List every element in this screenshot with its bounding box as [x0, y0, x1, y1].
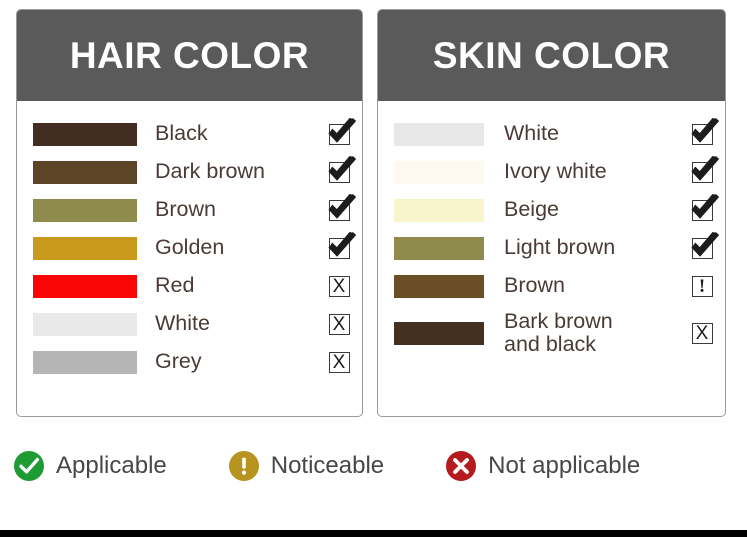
infographic-root: HAIR COLOR Black Dark brown — [0, 0, 747, 537]
color-label: White — [484, 122, 679, 145]
color-label: Ivory white — [484, 160, 679, 183]
panel-skin-color-header: SKIN COLOR — [378, 10, 725, 101]
x-mark-icon: X — [329, 352, 350, 373]
checkmark-icon — [329, 200, 350, 221]
color-swatch — [33, 161, 137, 184]
panel-hair-color-title: HAIR COLOR — [70, 37, 309, 74]
status-cell: X — [316, 352, 362, 373]
x-mark-icon: X — [329, 314, 350, 335]
panel-skin-color-body: White Ivory white Beige — [378, 101, 725, 361]
color-label: Brown — [484, 274, 679, 297]
color-label: Dark brown — [137, 160, 316, 183]
color-label: Grey — [137, 350, 316, 373]
status-cell — [679, 200, 725, 221]
table-row: Grey X — [17, 343, 362, 381]
table-row: Light brown — [378, 229, 725, 267]
legend-item-not-applicable: Not applicable — [446, 451, 640, 481]
color-swatch — [33, 275, 137, 298]
table-row: Red X — [17, 267, 362, 305]
exclamation-mark-icon: ! — [692, 276, 713, 297]
panel-skin-color-title: SKIN COLOR — [433, 37, 670, 74]
x-circle-icon — [446, 451, 476, 481]
color-swatch — [394, 199, 484, 222]
legend: Applicable Noticeable Not applicable — [0, 430, 747, 502]
legend-label: Applicable — [44, 452, 167, 480]
status-cell: X — [679, 323, 725, 344]
checkmark-icon — [329, 162, 350, 183]
check-circle-icon — [14, 451, 44, 481]
table-row: Brown — [17, 191, 362, 229]
color-label: Bark brown and black — [484, 310, 679, 356]
table-row: White — [378, 115, 725, 153]
status-cell: X — [316, 314, 362, 335]
color-label: Golden — [137, 236, 316, 259]
checkmark-icon — [692, 162, 713, 183]
table-row: Brown ! — [378, 267, 725, 305]
checkmark-icon — [692, 124, 713, 145]
status-cell: ! — [679, 276, 725, 297]
table-row: White X — [17, 305, 362, 343]
bottom-bar — [0, 530, 747, 537]
legend-label: Not applicable — [476, 452, 640, 480]
checkmark-icon — [692, 200, 713, 221]
status-cell — [679, 238, 725, 259]
status-cell — [316, 162, 362, 183]
table-row: Black — [17, 115, 362, 153]
table-row: Golden — [17, 229, 362, 267]
table-row: Ivory white — [378, 153, 725, 191]
legend-item-applicable: Applicable — [14, 451, 167, 481]
color-label: Red — [137, 274, 316, 297]
color-swatch — [33, 123, 137, 146]
panel-hair-color-header: HAIR COLOR — [17, 10, 362, 101]
color-swatch — [33, 237, 137, 260]
warning-circle-icon — [229, 451, 259, 481]
color-swatch — [394, 161, 484, 184]
panel-hair-color: HAIR COLOR Black Dark brown — [16, 9, 363, 417]
x-mark-icon: X — [329, 276, 350, 297]
status-cell — [316, 238, 362, 259]
table-row: Bark brown and black X — [378, 305, 725, 361]
checkmark-icon — [692, 238, 713, 259]
legend-item-noticeable: Noticeable — [229, 451, 384, 481]
color-swatch — [394, 237, 484, 260]
checkmark-icon — [329, 238, 350, 259]
status-cell — [679, 124, 725, 145]
color-swatch — [394, 322, 484, 345]
legend-label: Noticeable — [259, 452, 384, 480]
x-mark-icon: X — [692, 323, 713, 344]
color-label: Black — [137, 122, 316, 145]
color-label: Beige — [484, 198, 679, 221]
color-swatch — [33, 199, 137, 222]
status-cell — [316, 124, 362, 145]
panel-hair-color-body: Black Dark brown Brown — [17, 101, 362, 381]
table-row: Beige — [378, 191, 725, 229]
checkmark-icon — [329, 124, 350, 145]
color-swatch — [394, 123, 484, 146]
status-cell — [316, 200, 362, 221]
color-label: Brown — [137, 198, 316, 221]
status-cell — [679, 162, 725, 183]
panel-skin-color: SKIN COLOR White Ivory white — [377, 9, 726, 417]
color-swatch — [394, 275, 484, 298]
table-row: Dark brown — [17, 153, 362, 191]
color-label: Light brown — [484, 236, 679, 259]
color-swatch — [33, 313, 137, 336]
panels-container: HAIR COLOR Black Dark brown — [0, 0, 747, 422]
status-cell: X — [316, 276, 362, 297]
color-swatch — [33, 351, 137, 374]
color-label: White — [137, 312, 316, 335]
